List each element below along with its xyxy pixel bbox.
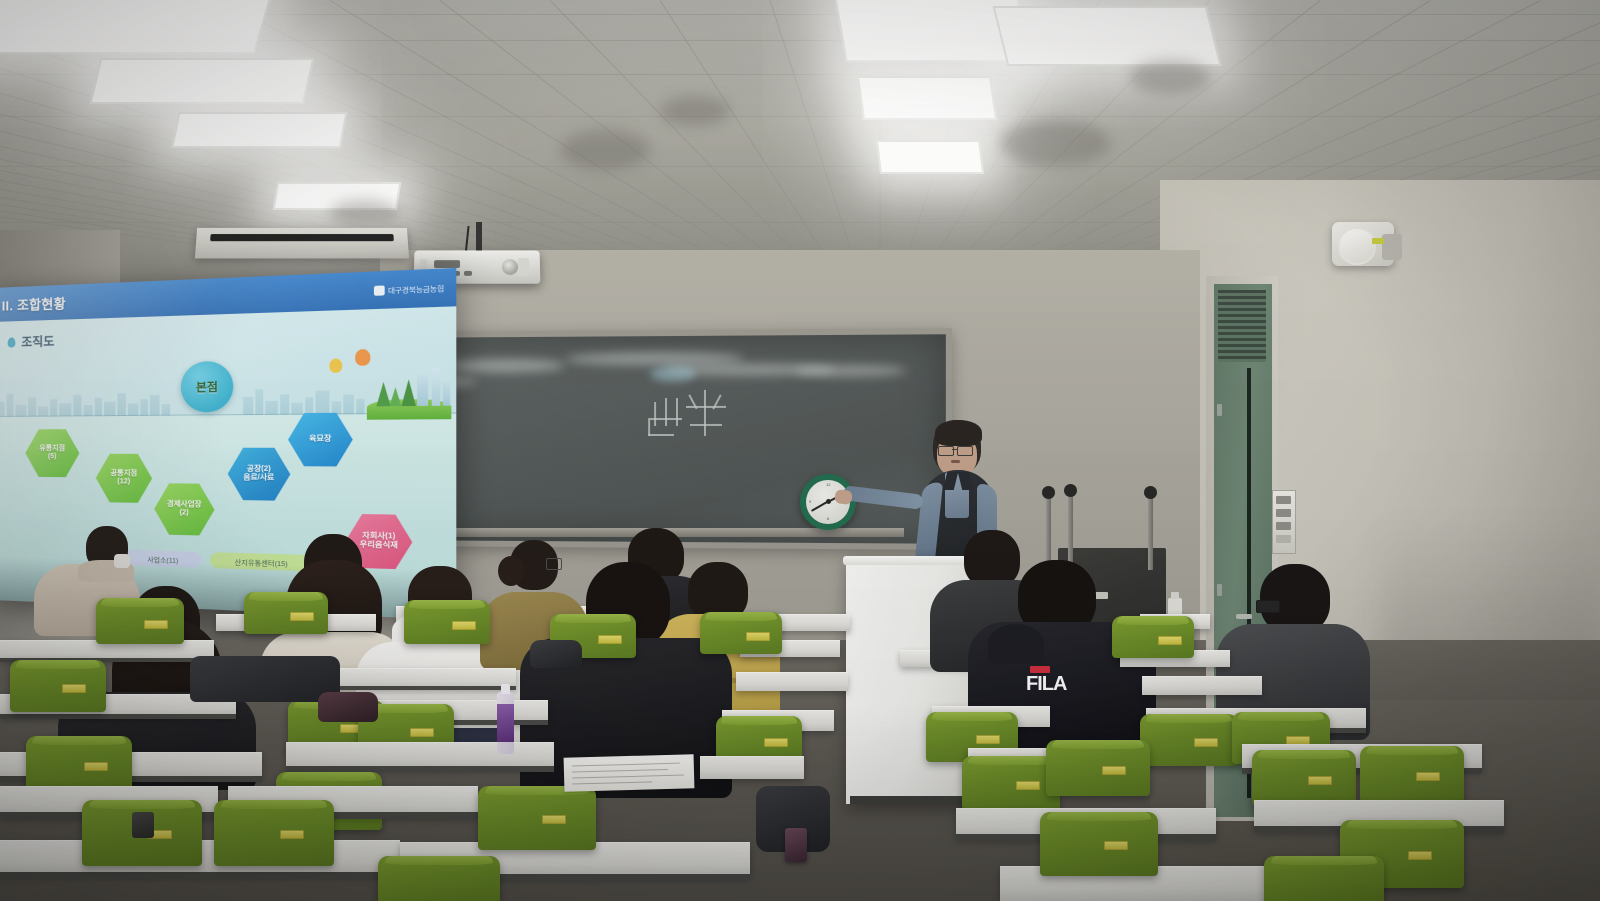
bag	[318, 692, 378, 722]
mic-stand	[1148, 492, 1153, 570]
chair[interactable]	[1252, 750, 1356, 806]
ceiling-light-panel	[993, 6, 1222, 66]
backpack	[190, 656, 340, 702]
projector-side	[518, 258, 529, 276]
ac-vent	[210, 234, 394, 241]
chair[interactable]	[1140, 714, 1238, 766]
desk	[700, 756, 804, 779]
logo-mark-icon	[374, 285, 385, 295]
desk-edge	[0, 872, 400, 880]
panel-button[interactable]	[1276, 522, 1291, 530]
org-node-label: 공장(2)	[247, 465, 271, 473]
speaker-label	[1372, 238, 1384, 244]
ceiling-stain	[330, 200, 400, 226]
chair[interactable]	[96, 598, 184, 644]
clock-hour-label: 6	[827, 516, 829, 521]
clock-hour-label: 9	[809, 499, 811, 504]
org-node-count: (2)	[180, 509, 189, 517]
logo-text: 대구경북능금농협	[388, 282, 444, 295]
lectern-base	[850, 796, 974, 804]
org-node-label: 육묘장	[309, 435, 331, 443]
smartphone[interactable]	[785, 828, 807, 862]
slide-section-heading: 조직도	[8, 332, 55, 350]
ceiling-stain	[660, 96, 730, 126]
chair[interactable]	[214, 800, 334, 866]
chair[interactable]	[700, 612, 782, 654]
door-vent-icon	[1218, 290, 1266, 362]
ceiling-light-panel	[857, 76, 997, 120]
balloon-graphic	[329, 358, 342, 372]
ceiling-stain	[1130, 60, 1210, 94]
org-node-count: 음료/사료	[243, 474, 274, 482]
ceiling-light-panel	[876, 140, 984, 174]
desk-hook	[132, 812, 154, 838]
purple-drink-bottle	[497, 682, 514, 754]
clock-center-pin	[826, 499, 831, 504]
presenter-mouth	[951, 460, 960, 463]
desk-edge	[0, 714, 236, 719]
org-node-label: 유통지점	[39, 445, 65, 452]
ceiling-light-panel	[0, 0, 273, 54]
chair[interactable]	[1046, 740, 1150, 796]
door-hinge	[1217, 404, 1222, 416]
mic-stand-head	[1042, 486, 1055, 499]
handout-paper	[564, 754, 695, 791]
org-root-node: 본점	[181, 361, 233, 413]
balloon-graphic	[355, 349, 370, 366]
org-root-label: 본점	[196, 378, 218, 395]
ceiling-air-conditioner	[195, 228, 409, 259]
panel-button[interactable]	[1276, 535, 1291, 543]
slide-header-title: II. 조합현황	[2, 292, 66, 314]
bag	[530, 640, 582, 668]
chair[interactable]	[404, 600, 490, 644]
chair[interactable]	[1040, 812, 1158, 876]
chalkboard	[413, 328, 952, 550]
panel-button[interactable]	[1276, 496, 1291, 504]
desk	[736, 672, 848, 691]
org-footer-label: 사업소(11)	[147, 553, 178, 564]
org-node-label: 공통지점	[110, 470, 137, 477]
desk	[1142, 676, 1262, 695]
glasses-icon	[938, 446, 972, 454]
ceiling-light-panel	[90, 58, 315, 104]
ceiling-stain	[1000, 120, 1110, 166]
tree-graphic	[369, 365, 451, 420]
presenter-hand	[834, 489, 853, 505]
presenter-hair-top	[935, 420, 982, 446]
ceiling-stain	[560, 130, 650, 170]
mask	[114, 554, 130, 568]
projector-mount-arm	[476, 222, 482, 254]
mic-stand	[1068, 490, 1073, 564]
org-node-count: (5)	[48, 453, 57, 460]
location-pin-icon	[8, 337, 16, 347]
chair[interactable]	[1360, 746, 1464, 802]
wall-control-panel[interactable]	[1272, 490, 1296, 554]
ceiling-grid-line	[0, 166, 1600, 167]
clock-hour-label: 12	[826, 482, 830, 487]
board-light-reflection	[650, 366, 696, 382]
speaker-grill-icon	[1338, 227, 1376, 265]
glasses-icon	[1256, 600, 1280, 613]
slide-section-title: 조직도	[21, 332, 54, 350]
panel-button[interactable]	[1276, 509, 1291, 517]
chair[interactable]	[478, 786, 596, 850]
fila-logo: FILA	[1024, 666, 1108, 696]
projector-grill	[434, 260, 460, 268]
chair[interactable]	[1264, 856, 1384, 901]
wall-speaker	[1332, 222, 1394, 266]
chair[interactable]	[244, 592, 328, 634]
chair[interactable]	[1112, 616, 1194, 658]
projector-vent	[464, 271, 472, 276]
mic-stand-head	[1144, 486, 1157, 499]
org-node-count: (12)	[117, 478, 130, 485]
chair[interactable]	[10, 660, 106, 712]
speaker-bracket	[1382, 234, 1402, 260]
mic-stand-head	[1064, 484, 1077, 497]
projector-lens	[502, 259, 518, 275]
ceiling-light-panel	[172, 112, 348, 148]
organization-logo: 대구경북능금농협	[374, 282, 444, 296]
jacket-hood	[988, 624, 1044, 664]
org-node-label: 경제사업장	[167, 501, 202, 509]
classroom-scene: 12 3 6 9 II. 조합현황 대구경북능금농협 조직도	[0, 0, 1600, 901]
chair[interactable]	[378, 856, 500, 901]
